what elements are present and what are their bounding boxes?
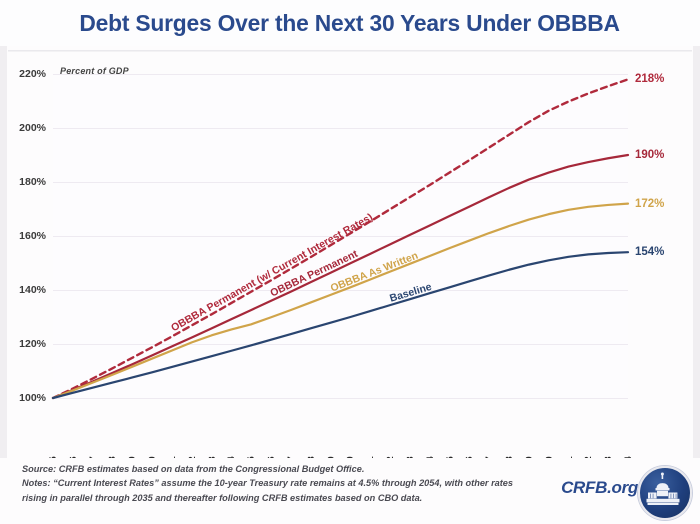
capitol-dome-icon: [638, 466, 692, 520]
chart-title-bar: Debt Surges Over the Next 30 Years Under…: [0, 0, 700, 46]
crfb-brand-label[interactable]: CRFB.org: [561, 478, 638, 498]
series-line: [53, 155, 628, 398]
y-axis-tick-label: 140%: [2, 284, 46, 296]
y-axis-tick-label: 220%: [2, 68, 46, 80]
y-axis-tick-label: 180%: [2, 176, 46, 188]
y-axis-tick-label: 200%: [2, 122, 46, 134]
y-axis-tick-label: 100%: [2, 392, 46, 404]
footer-notes-line-2: rising in parallel through 2035 and ther…: [22, 491, 522, 505]
footer-source-line: Source: CRFB estimates based on data fro…: [22, 462, 522, 476]
footer-notes-line-1: Notes: “Current Interest Rates” assume t…: [22, 476, 522, 490]
debt-projection-chart-infographic: Debt Surges Over the Next 30 Years Under…: [0, 0, 700, 524]
series-endpoint-label: 154%: [635, 246, 664, 258]
chart-area: Percent of GDP 100%120%140%160%180%200%2…: [0, 52, 700, 452]
page-title: Debt Surges Over the Next 30 Years Under…: [80, 10, 620, 37]
series-endpoint-label: 218%: [635, 73, 664, 85]
y-axis-tick-label: 120%: [2, 338, 46, 350]
footer-notes: Source: CRFB estimates based on data fro…: [22, 462, 522, 505]
series-endpoint-label: 190%: [635, 149, 664, 161]
series-endpoint-label: 172%: [635, 198, 664, 210]
footer: Source: CRFB estimates based on data fro…: [0, 458, 700, 524]
y-axis-tick-label: 160%: [2, 230, 46, 242]
gridline: [53, 398, 628, 399]
series-line: [53, 252, 628, 398]
